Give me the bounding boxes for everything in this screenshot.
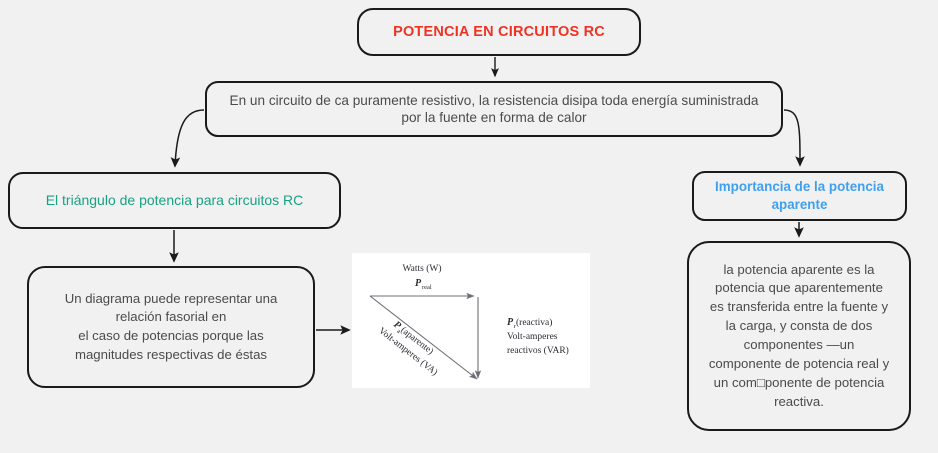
node-phasor-description[interactable]: Un diagrama puede representar una relaci… <box>27 266 315 388</box>
svg-text:real: real <box>422 284 432 291</box>
node-title-label: POTENCIA EN CIRCUITOS RC <box>383 23 615 42</box>
node-apparent-heading-label: Importancia de la potencia aparente <box>705 178 894 213</box>
node-statement[interactable]: En un circuito de ca puramente resistivo… <box>205 81 783 137</box>
node-phasor-description-label: Un diagrama puede representar una relaci… <box>55 290 288 365</box>
node-apparent-description[interactable]: la potencia aparente es la potencia que … <box>687 241 911 431</box>
power-triangle-figure: Watts (W) P real P r (reactiva) Volt-amp… <box>352 253 590 388</box>
connector-statement-to-triangle-heading <box>175 110 204 166</box>
svg-text:reactivos (VAR): reactivos (VAR) <box>507 345 569 356</box>
svg-text:P: P <box>415 278 422 289</box>
apparent-power-label: P a (aparente) Volt-amperes (VA) <box>376 314 448 378</box>
real-symbol-label: P real <box>415 278 432 291</box>
reactive-power-label: P r (reactiva) Volt-amperes reactivos (V… <box>507 317 569 356</box>
node-statement-label: En un circuito de ca puramente resistivo… <box>220 92 769 127</box>
svg-text:Volt-amperes: Volt-amperes <box>507 332 558 342</box>
real-units-label: Watts (W) <box>402 263 441 274</box>
node-triangle-heading[interactable]: El triángulo de potencia para circuitos … <box>8 172 341 229</box>
node-apparent-description-label: la potencia aparente es la potencia que … <box>699 261 899 412</box>
connector-statement-to-apparent-heading <box>784 110 800 165</box>
node-triangle-heading-label: El triángulo de potencia para circuitos … <box>36 192 314 210</box>
svg-text:(reactiva): (reactiva) <box>516 317 552 328</box>
diagram-canvas: POTENCIA EN CIRCUITOS RC En un circuito … <box>0 0 938 453</box>
node-apparent-heading[interactable]: Importancia de la potencia aparente <box>692 171 907 221</box>
node-title[interactable]: POTENCIA EN CIRCUITOS RC <box>357 8 641 56</box>
